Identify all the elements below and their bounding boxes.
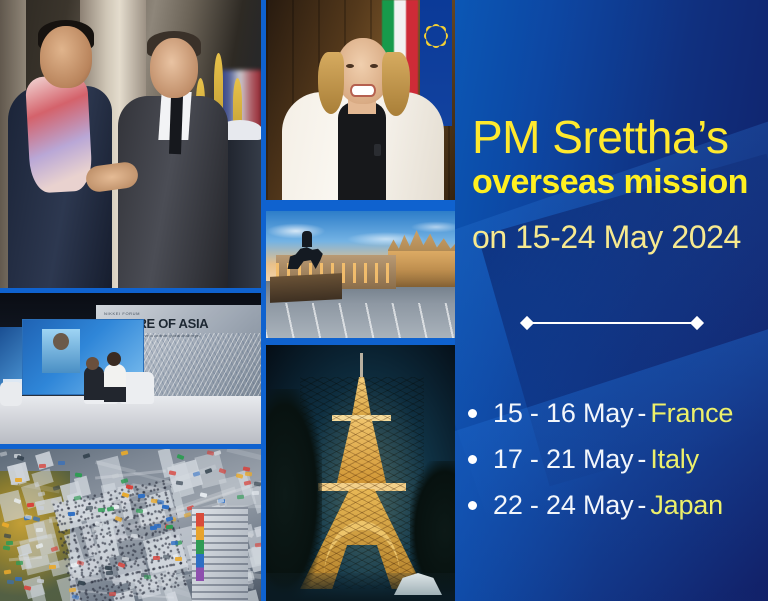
person-srettha-scarf bbox=[25, 74, 93, 193]
itinerary-country: Italy bbox=[650, 444, 699, 475]
tokyo-vehicle bbox=[77, 580, 85, 585]
list-item: 22 - 24 May - Japan bbox=[468, 490, 768, 521]
tokyo-vehicle bbox=[37, 506, 44, 510]
tokyo-vehicle bbox=[72, 594, 80, 600]
forum-panelist-head bbox=[86, 357, 99, 370]
tokyo-vehicle bbox=[4, 570, 12, 575]
tokyo-vehicle bbox=[131, 534, 138, 539]
tokyo-vehicle bbox=[244, 481, 252, 486]
person-macron-head bbox=[150, 38, 198, 98]
forum-side-chair bbox=[0, 382, 22, 406]
tokyo-vehicle bbox=[7, 580, 14, 585]
tokyo-vehicle bbox=[135, 508, 143, 513]
tokyo-vehicle bbox=[106, 571, 113, 575]
title-line-1: PM Srettha’s bbox=[472, 112, 762, 162]
tokyo-vehicle bbox=[14, 498, 22, 504]
tokyo-vehicle bbox=[2, 545, 10, 550]
bullet-dot-icon bbox=[468, 501, 477, 510]
tokyo-vehicle bbox=[68, 511, 75, 515]
itinerary-list: 15 - 16 May - France 17 - 21 May - Italy… bbox=[468, 398, 768, 536]
tokyo-vehicle bbox=[1, 522, 9, 528]
tokyo-vehicle bbox=[205, 468, 213, 474]
itinerary-separator: - bbox=[633, 490, 650, 521]
tokyo-vehicle bbox=[214, 450, 222, 456]
tokyo-vehicle bbox=[255, 543, 261, 548]
tokyo-vehicle bbox=[106, 506, 114, 511]
tokyo-vehicle bbox=[171, 541, 178, 545]
forum-panelist bbox=[84, 366, 104, 400]
photo-meloni bbox=[266, 0, 458, 200]
tokyo-vehicle bbox=[165, 517, 173, 523]
tokyo-vehicle bbox=[73, 573, 81, 579]
bullet-dot-icon bbox=[468, 409, 477, 418]
tokyo-vehicle bbox=[177, 454, 185, 460]
tokyo-vehicle bbox=[32, 516, 40, 522]
eu-stars-icon bbox=[426, 26, 446, 46]
photo-tokyo-aerial bbox=[0, 449, 261, 601]
tokyo-vehicle bbox=[51, 499, 59, 505]
itinerary-dates: 22 - 24 May bbox=[493, 490, 633, 521]
tokyo-vehicle bbox=[49, 564, 56, 568]
tokyo-vehicle bbox=[15, 577, 22, 581]
tokyo-vehicle bbox=[39, 463, 46, 467]
title-line-2: overseas mission bbox=[472, 162, 762, 202]
tokyo-vehicle bbox=[92, 527, 99, 531]
tokyo-vehicle bbox=[184, 513, 192, 519]
tokyo-vehicle bbox=[122, 556, 130, 561]
eiffel-tree-left bbox=[266, 389, 322, 601]
tokyo-vehicle bbox=[138, 494, 145, 499]
meloni-hair-right bbox=[382, 52, 410, 116]
tokyo-vehicle bbox=[243, 466, 251, 471]
lapel-microphone-icon bbox=[374, 144, 381, 156]
poster-title: PM Srettha’s overseas mission on 15-24 M… bbox=[472, 112, 762, 256]
list-item: 15 - 16 May - France bbox=[468, 398, 768, 429]
tokyo-vehicle bbox=[74, 495, 82, 500]
tokyo-vehicle bbox=[125, 484, 133, 489]
diamond-icon bbox=[690, 316, 704, 330]
tokyo-vehicle bbox=[254, 482, 261, 487]
tokyo-vehicle bbox=[6, 541, 13, 545]
tokyo-vehicle bbox=[51, 546, 59, 552]
person-srettha-head bbox=[40, 26, 92, 88]
equestrian-statue-rider bbox=[302, 231, 312, 247]
tokyo-vehicle bbox=[98, 508, 105, 512]
tokyo-vehicle bbox=[35, 543, 43, 549]
divider-line bbox=[530, 322, 694, 324]
tokyo-vehicle bbox=[112, 473, 120, 478]
tokyo-vehicle bbox=[245, 472, 252, 477]
tokyo-vehicle bbox=[23, 585, 31, 590]
tokyo-vehicle bbox=[38, 491, 46, 496]
tokyo-vehicle bbox=[200, 492, 208, 497]
milan-pavement-lines bbox=[266, 303, 458, 338]
tokyo-vehicle bbox=[106, 551, 114, 557]
photo-milan-duomo bbox=[266, 211, 458, 338]
tokyo-vehicle bbox=[175, 481, 182, 486]
meloni-eye-right bbox=[370, 64, 378, 68]
tokyo-vehicle bbox=[75, 472, 82, 477]
tokyo-vehicle bbox=[150, 526, 157, 531]
tokyo-vehicle bbox=[157, 499, 165, 505]
tokyo-vehicle bbox=[121, 478, 129, 484]
milan-monument-base bbox=[270, 273, 342, 303]
tokyo-vehicle bbox=[114, 516, 122, 522]
tokyo-vehicle bbox=[121, 492, 129, 498]
tokyo-vehicle bbox=[17, 455, 25, 461]
forum-panelist-head bbox=[107, 352, 121, 366]
tokyo-vehicle bbox=[165, 525, 172, 530]
forum-panelist bbox=[104, 364, 126, 402]
photo-collage: NIKKEI FORUM FUTURE OF ASIA Leveraging A… bbox=[0, 0, 458, 601]
tokyo-vehicle bbox=[218, 468, 226, 474]
person-macron-tie bbox=[169, 96, 183, 154]
tokyo-vehicle bbox=[252, 491, 259, 495]
tokyo-vehicle bbox=[52, 486, 60, 492]
photo-handshake bbox=[0, 0, 261, 288]
tokyo-vehicle bbox=[120, 450, 128, 456]
tokyo-vehicle bbox=[69, 588, 76, 593]
tokyo-vehicle bbox=[83, 453, 91, 459]
milan-duomo-lighting bbox=[388, 251, 456, 287]
tokyo-vehicle bbox=[237, 495, 244, 500]
itinerary-country: France bbox=[650, 398, 733, 429]
list-item: 17 - 21 May - Italy bbox=[468, 444, 768, 475]
meloni-eye-left bbox=[346, 64, 354, 68]
tokyo-vehicle bbox=[105, 566, 112, 571]
bullet-dot-icon bbox=[468, 455, 477, 464]
tokyo-vehicle bbox=[175, 557, 182, 561]
tokyo-vehicle bbox=[37, 579, 44, 584]
tokyo-vehicle bbox=[144, 574, 151, 579]
itinerary-dates: 17 - 21 May bbox=[493, 444, 633, 475]
tokyo-vehicle bbox=[162, 504, 169, 509]
poster-canvas: NIKKEI FORUM FUTURE OF ASIA Leveraging A… bbox=[0, 0, 768, 601]
itinerary-dates: 15 - 16 May bbox=[493, 398, 633, 429]
tokyo-vehicle bbox=[192, 471, 200, 477]
photo-eiffel-tower bbox=[266, 345, 458, 601]
forum-screen-speaker-head bbox=[53, 333, 69, 350]
tokyo-vehicle bbox=[0, 451, 8, 457]
tokyo-vehicle bbox=[15, 478, 22, 482]
photo-future-of-asia-forum: NIKKEI FORUM FUTURE OF ASIA Leveraging A… bbox=[0, 293, 261, 444]
tokyo-vehicle bbox=[109, 592, 116, 597]
info-panel: PM Srettha’s overseas mission on 15-24 M… bbox=[455, 0, 768, 601]
itinerary-separator: - bbox=[633, 444, 650, 475]
tokyo-vehicle bbox=[94, 522, 102, 528]
title-line-3: on 15-24 May 2024 bbox=[472, 218, 762, 256]
tokyo-vehicle bbox=[163, 554, 171, 560]
meloni-hair-left bbox=[318, 52, 344, 114]
tokyo-vehicle bbox=[3, 534, 11, 539]
tokyo-vehicle bbox=[236, 473, 244, 479]
itinerary-separator: - bbox=[633, 398, 650, 429]
tokyo-building-signage bbox=[196, 513, 204, 581]
decorative-divider bbox=[522, 315, 702, 331]
tokyo-vehicle bbox=[58, 461, 65, 465]
meloni-mouth bbox=[352, 86, 374, 95]
tokyo-vehicle bbox=[26, 502, 33, 507]
tokyo-vehicle bbox=[86, 506, 93, 511]
tokyo-vehicle bbox=[36, 528, 43, 532]
tokyo-vehicle bbox=[153, 556, 160, 560]
tokyo-vehicle bbox=[169, 470, 177, 475]
tokyo-vehicle bbox=[16, 561, 23, 565]
itinerary-country: Japan bbox=[650, 490, 723, 521]
tokyo-vehicle bbox=[118, 562, 126, 568]
